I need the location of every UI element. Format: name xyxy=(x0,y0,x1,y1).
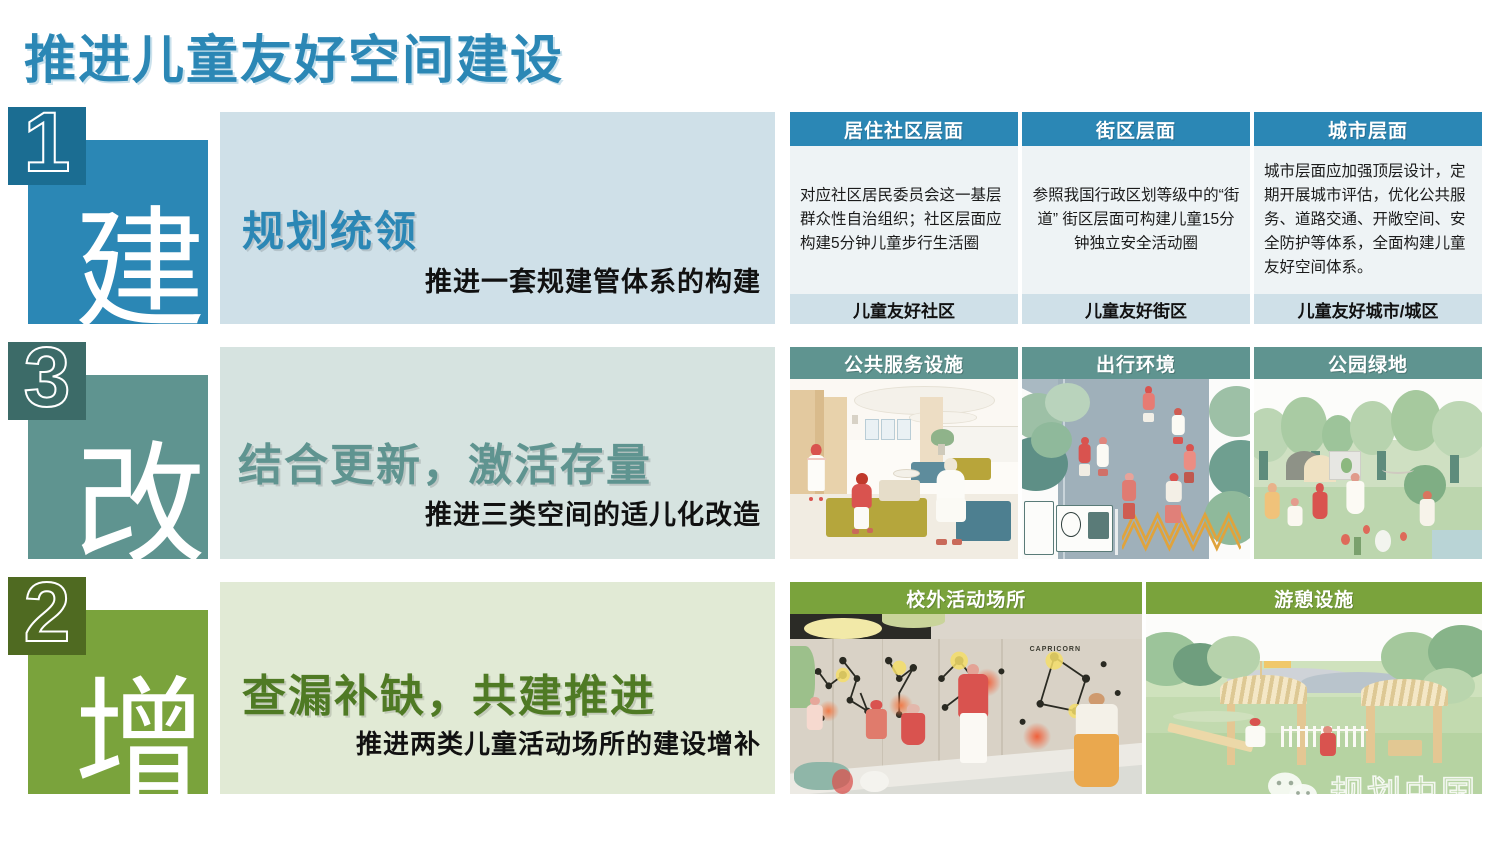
row-2-number-badge: 3 xyxy=(8,342,86,420)
table-column-community: 居住社区层面 对应社区居民委员会这一基层群众性自治组织；社区层面应构建5分钟儿童… xyxy=(790,112,1018,324)
illustration-park-green-lawn xyxy=(1254,379,1482,559)
levels-table: 居住社区层面 对应社区居民委员会这一基层群众性自治组织；社区层面应构建5分钟儿童… xyxy=(790,112,1482,324)
row-2-number: 3 xyxy=(24,335,71,419)
table-header-city: 城市层面 xyxy=(1254,112,1482,146)
row-3-hanzi: 增 xyxy=(74,676,206,808)
row-2-subtitle: 推进三类空间的适儿化改造 xyxy=(425,493,761,532)
illustration-constellation-wall: CAPRICORN xyxy=(790,614,1142,794)
row-3-subtitle: 推进两类儿童活动场所的建设增补 xyxy=(356,724,761,761)
row-2-title: 结合更新，激活存量 xyxy=(238,429,652,493)
table-footer-block: 儿童友好街区 xyxy=(1022,294,1250,324)
row-3-image-strip: 校外活动场所 xyxy=(790,582,1482,794)
row-2-image-strip: 公共服务设施 xyxy=(790,347,1482,559)
image-header-park-green: 公园绿地 xyxy=(1254,347,1482,379)
table-header-community: 居住社区层面 xyxy=(790,112,1018,146)
illustration-street-walk-to-school xyxy=(1022,379,1250,559)
image-header-recreation-facility: 游憩设施 xyxy=(1146,582,1482,614)
row-2-right-area: 公共服务设施 xyxy=(790,347,1482,559)
row-3-number: 2 xyxy=(24,570,71,654)
image-card-park-green: 公园绿地 xyxy=(1254,347,1482,559)
row-2-hanzi: 改 xyxy=(74,441,206,573)
table-header-block: 街区层面 xyxy=(1022,112,1250,146)
row-2-text-panel: 结合更新，激活存量 推进三类空间的适儿化改造 xyxy=(220,347,775,559)
image-card-travel-environment: 出行环境 xyxy=(1022,347,1250,559)
row-3-number-badge: 2 xyxy=(8,577,86,655)
illustration-indoor-community-lounge xyxy=(790,379,1018,559)
row-1-text-panel: 规划统领 推进一套规建管体系的构建 xyxy=(220,112,775,324)
row-1-title: 规划统领 xyxy=(242,198,418,259)
image-header-travel-environment: 出行环境 xyxy=(1022,347,1250,379)
image-card-offcampus-activity: 校外活动场所 xyxy=(790,582,1142,794)
table-footer-community: 儿童友好社区 xyxy=(790,294,1018,324)
wechat-icon xyxy=(1266,771,1322,811)
image-header-public-service: 公共服务设施 xyxy=(790,347,1018,379)
page-title: 推进儿童友好空间建设 xyxy=(24,18,564,93)
row-1-number: 1 xyxy=(24,100,71,184)
table-body-block: 参照我国行政区划等级中的“街道” 街区层面可构建儿童15分钟独立安全活动圈 xyxy=(1022,146,1250,294)
constellation-label: CAPRICORN xyxy=(1030,646,1081,653)
watermark-text: 规划中国 xyxy=(1330,766,1478,815)
watermark: 规划中国 xyxy=(1266,766,1478,815)
row-3-right-area: 校外活动场所 xyxy=(790,582,1482,794)
image-header-offcampus-activity: 校外活动场所 xyxy=(790,582,1142,614)
table-column-city: 城市层面 城市层面应加强顶层设计，定期开展城市评估，优化公共服务、道路交通、开敞… xyxy=(1254,112,1482,324)
slide-root: 推进儿童友好空间建设 建 1 规划统领 推进一套规建管体系的构建 居住社区层面 … xyxy=(0,0,1500,843)
row-3-text-panel: 查漏补缺，共建推进 推进两类儿童活动场所的建设增补 xyxy=(220,582,775,794)
table-footer-city: 儿童友好城市/城区 xyxy=(1254,294,1482,324)
row-1-right-area: 居住社区层面 对应社区居民委员会这一基层群众性自治组织；社区层面应构建5分钟儿童… xyxy=(790,112,1482,324)
table-body-city: 城市层面应加强顶层设计，定期开展城市评估，优化公共服务、道路交通、开敞空间、安全… xyxy=(1254,146,1482,294)
image-card-recreation-facility: 游憩设施 xyxy=(1146,582,1482,794)
table-column-block: 街区层面 参照我国行政区划等级中的“街道” 街区层面可构建儿童15分钟独立安全活… xyxy=(1022,112,1250,324)
row-1-hanzi: 建 xyxy=(74,206,206,338)
row-3-title: 查漏补缺，共建推进 xyxy=(242,660,656,724)
image-card-public-service: 公共服务设施 xyxy=(790,347,1018,559)
row-1-number-badge: 1 xyxy=(8,107,86,185)
row-1-subtitle: 推进一套规建管体系的构建 xyxy=(425,260,761,299)
table-body-community: 对应社区居民委员会这一基层群众性自治组织；社区层面应构建5分钟儿童步行生活圈 xyxy=(790,146,1018,294)
